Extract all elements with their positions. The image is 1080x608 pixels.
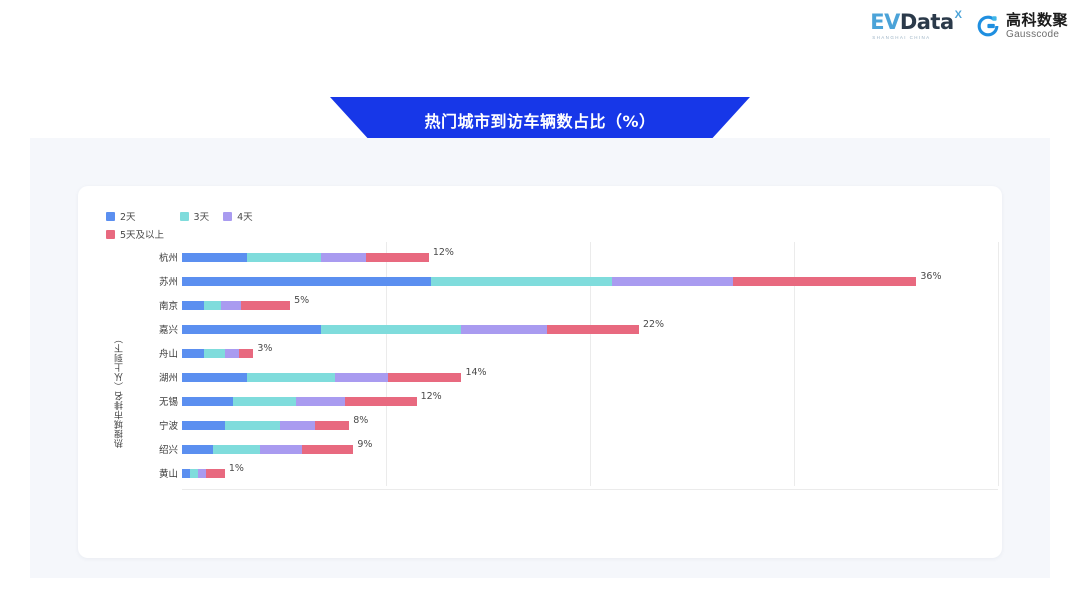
legend-item-3天[interactable]: 3天 — [180, 208, 210, 224]
bar-segment-4天[interactable] — [335, 373, 388, 382]
stacked-bar[interactable] — [182, 373, 461, 382]
chart-card: 2天3天4天5天及以上 热搜城市排名（从上到下） 杭州苏州南京嘉兴舟山湖州无锡宁… — [78, 186, 1002, 558]
bar-segment-2天[interactable] — [182, 421, 225, 430]
legend-item-4天[interactable]: 4天 — [223, 208, 253, 224]
gausscode-name-cn: 高科数聚 — [1006, 13, 1068, 28]
bar-segment-3天[interactable] — [225, 421, 280, 430]
gausscode-text-block: 高科数聚 Gausscode — [1006, 13, 1068, 40]
bar-row[interactable]: 36% — [182, 270, 998, 292]
bar-segment-5天及以上[interactable] — [733, 277, 917, 286]
stacked-bar[interactable] — [182, 325, 639, 334]
bar-segment-5天及以上[interactable] — [366, 253, 429, 262]
bar-segment-3天[interactable] — [233, 397, 296, 406]
bar-segment-5天及以上[interactable] — [206, 469, 224, 478]
evdata-logo: EVData X SHANGHAI CHINA — [870, 12, 962, 40]
bar-total-label: 1% — [229, 463, 244, 474]
category-label-黄山: 黄山 — [134, 462, 178, 484]
bar-total-label: 22% — [643, 319, 664, 330]
gridline-40pct — [998, 242, 999, 486]
y-axis-title: 热搜城市排名（从上到下） — [112, 296, 126, 486]
legend-swatch-icon — [106, 212, 115, 221]
stacked-bar[interactable] — [182, 349, 253, 358]
bar-segment-4天[interactable] — [198, 469, 206, 478]
stacked-bar[interactable] — [182, 277, 916, 286]
plot-area: 杭州苏州南京嘉兴舟山湖州无锡宁波绍兴黄山 12%36%5%22%3%14%12%… — [134, 246, 1002, 486]
category-label-绍兴: 绍兴 — [134, 438, 178, 460]
bar-segment-3天[interactable] — [321, 325, 462, 334]
legend-item-5天及以上[interactable]: 5天及以上 — [106, 226, 912, 242]
bar-row[interactable]: 12% — [182, 246, 998, 268]
title-ribbon: 热门城市到访车辆数占比（%） — [330, 97, 750, 143]
evdata-ev-part: EV — [870, 10, 900, 34]
stacked-bar[interactable] — [182, 445, 353, 454]
bar-row[interactable]: 22% — [182, 318, 998, 340]
evdata-subtitle: SHANGHAI CHINA — [872, 35, 930, 40]
bar-segment-4天[interactable] — [461, 325, 547, 334]
y-axis-title-label: 热搜城市排名（从上到下） — [113, 334, 126, 448]
bar-row[interactable]: 8% — [182, 414, 998, 436]
bar-segment-3天[interactable] — [247, 373, 335, 382]
stacked-bar[interactable] — [182, 301, 290, 310]
bar-segment-5天及以上[interactable] — [388, 373, 461, 382]
bar-segment-2天[interactable] — [182, 253, 247, 262]
category-label-杭州: 杭州 — [134, 246, 178, 268]
category-label-舟山: 舟山 — [134, 342, 178, 364]
logo-bar: EVData X SHANGHAI CHINA 高科数聚 Gausscode — [870, 12, 1068, 40]
bar-segment-2天[interactable] — [182, 445, 213, 454]
bar-segment-2天[interactable] — [182, 397, 233, 406]
bar-row[interactable]: 3% — [182, 342, 998, 364]
bar-segment-5天及以上[interactable] — [239, 349, 253, 358]
bar-segment-5天及以上[interactable] — [547, 325, 639, 334]
category-label-宁波: 宁波 — [134, 414, 178, 436]
stacked-bar[interactable] — [182, 253, 429, 262]
bar-segment-2天[interactable] — [182, 373, 247, 382]
bar-segment-4天[interactable] — [221, 301, 241, 310]
category-label-无锡: 无锡 — [134, 390, 178, 412]
bar-row[interactable]: 12% — [182, 390, 998, 412]
legend-item-2天[interactable]: 2天 — [106, 208, 136, 224]
bar-total-label: 14% — [465, 367, 486, 378]
stacked-bar[interactable] — [182, 469, 225, 478]
legend-label: 2天 — [120, 209, 136, 223]
axis-baseline — [182, 489, 998, 490]
bar-segment-3天[interactable] — [431, 277, 613, 286]
bar-segment-4天[interactable] — [280, 421, 315, 430]
chart-legend: 2天3天4天5天及以上 — [106, 208, 926, 242]
bar-segment-3天[interactable] — [204, 349, 224, 358]
legend-label: 5天及以上 — [120, 227, 164, 241]
category-axis: 杭州苏州南京嘉兴舟山湖州无锡宁波绍兴黄山 — [134, 246, 178, 486]
gausscode-name-en: Gausscode — [1006, 30, 1068, 40]
evdata-data-part: Data — [900, 10, 954, 34]
bar-segment-3天[interactable] — [247, 253, 320, 262]
bar-segment-4天[interactable] — [225, 349, 239, 358]
bar-segment-2天[interactable] — [182, 325, 321, 334]
bar-total-label: 8% — [353, 415, 368, 426]
bar-segment-5天及以上[interactable] — [241, 301, 290, 310]
legend-label: 4天 — [237, 209, 253, 223]
legend-swatch-icon — [180, 212, 189, 221]
legend-swatch-icon — [106, 230, 115, 239]
legend-label: 3天 — [194, 209, 210, 223]
bars-area: 12%36%5%22%3%14%12%8%9%1% — [182, 246, 998, 486]
bar-segment-4天[interactable] — [260, 445, 303, 454]
legend-swatch-icon — [223, 212, 232, 221]
evdata-logo-wordmark: EVData X — [870, 12, 962, 33]
bar-row[interactable]: 9% — [182, 438, 998, 460]
bar-segment-4天[interactable] — [296, 397, 345, 406]
bar-total-label: 36% — [920, 271, 941, 282]
bar-total-label: 12% — [421, 391, 442, 402]
bar-segment-2天[interactable] — [182, 301, 204, 310]
content-panel-background: 2天3天4天5天及以上 热搜城市排名（从上到下） 杭州苏州南京嘉兴舟山湖州无锡宁… — [30, 138, 1050, 578]
bar-segment-5天及以上[interactable] — [302, 445, 353, 454]
bar-segment-5天及以上[interactable] — [345, 397, 416, 406]
bar-segment-2天[interactable] — [182, 277, 431, 286]
bar-segment-3天[interactable] — [213, 445, 260, 454]
bar-segment-5天及以上[interactable] — [315, 421, 350, 430]
bar-total-label: 3% — [257, 343, 272, 354]
page-title: 热门城市到访车辆数占比（%） — [424, 108, 655, 132]
chart-body: 热搜城市排名（从上到下） 杭州苏州南京嘉兴舟山湖州无锡宁波绍兴黄山 12%36%… — [78, 246, 1002, 546]
bar-segment-3天[interactable] — [204, 301, 220, 310]
bar-segment-3天[interactable] — [190, 469, 198, 478]
evdata-superscript-x: X — [955, 9, 962, 21]
bar-total-label: 12% — [433, 247, 454, 258]
bar-segment-4天[interactable] — [612, 277, 732, 286]
bar-row[interactable]: 1% — [182, 462, 998, 484]
category-label-湖州: 湖州 — [134, 366, 178, 388]
category-label-嘉兴: 嘉兴 — [134, 318, 178, 340]
bar-segment-2天[interactable] — [182, 469, 190, 478]
bar-row[interactable]: 14% — [182, 366, 998, 388]
gausscode-circle-icon — [976, 14, 1000, 38]
bar-segment-2天[interactable] — [182, 349, 204, 358]
bar-row[interactable]: 5% — [182, 294, 998, 316]
evdata-wordmark-text: EVData — [870, 12, 953, 33]
stacked-bar[interactable] — [182, 421, 349, 430]
bar-total-label: 9% — [357, 439, 372, 450]
slide-canvas: EVData X SHANGHAI CHINA 高科数聚 Gausscode 热… — [0, 0, 1080, 608]
gausscode-logo: 高科数聚 Gausscode — [976, 13, 1068, 40]
stacked-bar[interactable] — [182, 397, 417, 406]
category-label-南京: 南京 — [134, 294, 178, 316]
bar-segment-4天[interactable] — [321, 253, 366, 262]
category-label-苏州: 苏州 — [134, 270, 178, 292]
bar-total-label: 5% — [294, 295, 309, 306]
